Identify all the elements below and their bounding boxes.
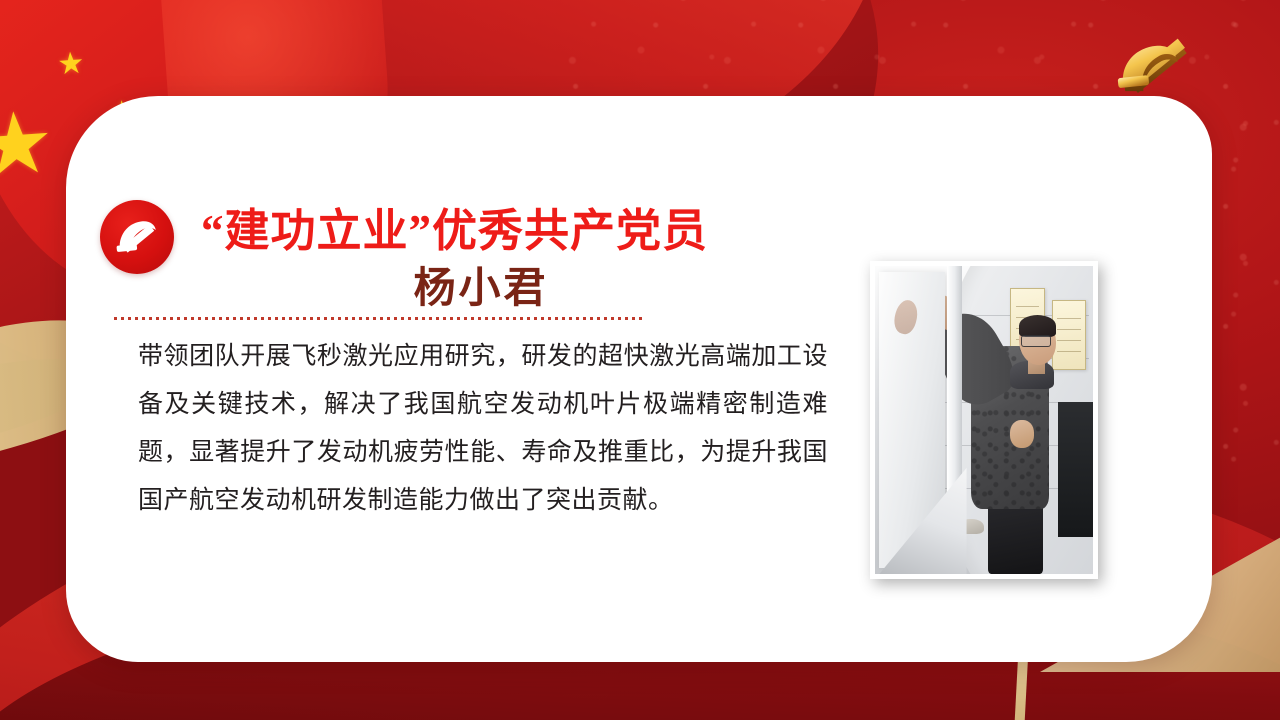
person-name: 杨小君	[201, 254, 761, 315]
flag-star-small-1: ★	[56, 49, 85, 81]
hammer-sickle-icon	[100, 200, 174, 274]
page-title: “建功立业”优秀共产党员	[201, 194, 761, 259]
content-card: “建功立业”优秀共产党员 杨小君 带领团队开展飞秒激光应用研究，研发的超快激光高…	[66, 96, 1212, 662]
hammer-sickle-gold-icon	[1110, 26, 1202, 102]
person-glasses	[1021, 335, 1051, 346]
person-photo-image	[875, 266, 1093, 574]
flag-star-large: ★	[0, 99, 57, 190]
dotted-divider	[114, 317, 642, 320]
person-hair	[1019, 315, 1056, 337]
person-other-hand	[1010, 420, 1034, 448]
achievement-description: 带领团队开展飞秒激光应用研究，研发的超快激光高端加工设备及关键技术，解决了我国航…	[138, 332, 828, 524]
person-photo	[870, 261, 1098, 579]
slide-root: ★ ★ ★ ★ ★	[0, 0, 1280, 720]
